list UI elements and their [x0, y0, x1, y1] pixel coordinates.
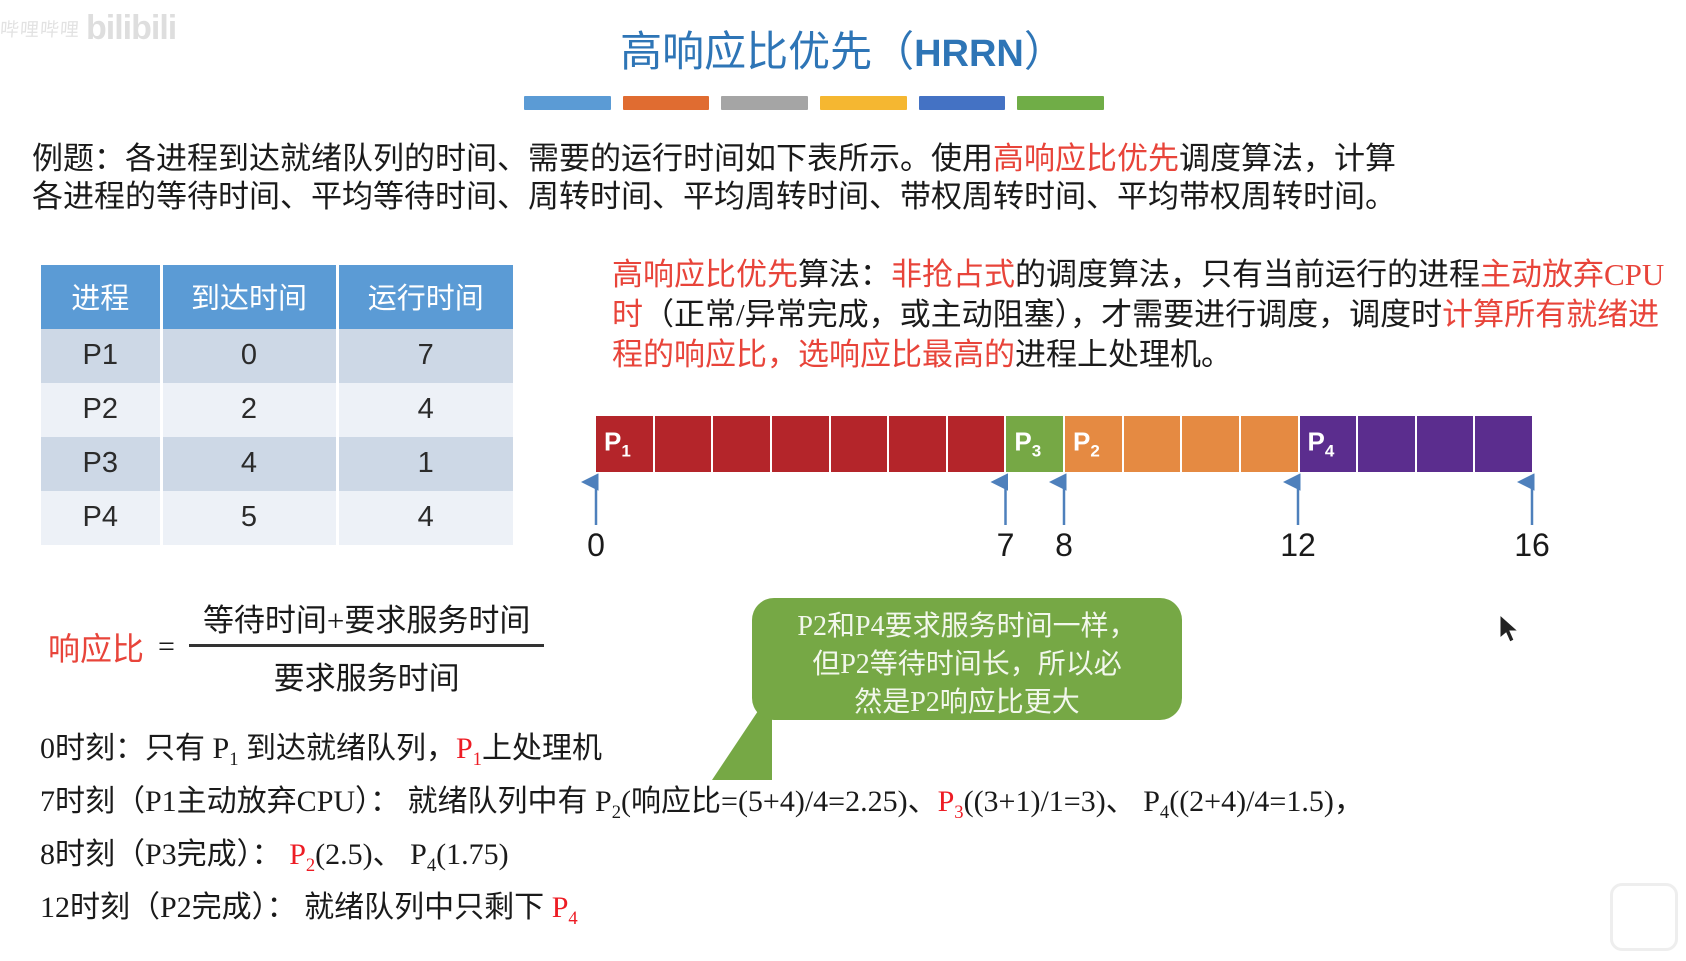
callout-line-1: P2和P4要求服务时间一样，	[752, 608, 1182, 646]
t12-a: 12时刻（P2完成）： 就绪队列中只剩下	[40, 891, 552, 924]
title-acronym: HRRN	[914, 33, 1024, 75]
t12-red-p: P	[552, 891, 569, 924]
t7-b: (响应比=(5+4)/4=2.25)、	[621, 785, 938, 818]
algorithm-description: 高响应比优先算法：非抢占式的调度算法，只有当前运行的进程主动放弃CPU时（正常/…	[612, 255, 1674, 375]
explanation-block: 0时刻：只有 P1 到达就绪队列，P1上处理机 7时刻（P1主动放弃CPU）： …	[40, 728, 1660, 940]
t0-red-p: P	[456, 732, 473, 765]
gantt-cell-P4	[1417, 416, 1476, 472]
gantt-cell-P2	[1124, 416, 1183, 472]
t0-red-sub: 1	[473, 749, 482, 770]
gantt-cell-label: P3	[1014, 426, 1041, 461]
gantt-cell-label: P1	[604, 426, 631, 461]
algo-t3: （正常/异常完成，或主动阻塞），才需要进行调度，调度时	[643, 297, 1442, 332]
gantt-cell-P1	[655, 416, 714, 472]
algo-t4: 进程上处理机。	[1015, 337, 1232, 372]
gantt-cell-P1	[713, 416, 772, 472]
callout-line-2: 但P2等待时间长，所以必	[752, 646, 1182, 684]
gantt-cell-label: P2	[1073, 426, 1100, 461]
gantt-cell-P3: P3	[1006, 416, 1065, 472]
explanation-line-t0: 0时刻：只有 P1 到达就绪队列，P1上处理机	[40, 728, 1660, 781]
t8-red-p: P	[289, 838, 306, 871]
algo-t2: 的调度算法，只有当前运行的进程	[1015, 257, 1480, 292]
table-header-arrival: 到达时间	[161, 265, 337, 329]
table-header-process: 进程	[41, 265, 161, 329]
page-title: 高响应比优先（HRRN）	[0, 18, 1686, 79]
table-row: P4 5 4	[41, 491, 513, 545]
t7-sub: 2	[612, 802, 621, 823]
title-cn-head: 高响应比优先（	[620, 30, 914, 76]
intro-line2: 各进程的等待时间、平均等待时间、周转时间、平均周转时间、带权周转时间、平均带权周…	[32, 179, 1396, 214]
gantt-cell-P1	[948, 416, 1007, 472]
title-bar-4	[820, 96, 907, 110]
algo-hl-nonpreemptive: 非抢占式	[891, 257, 1015, 292]
cell-process: P3	[41, 437, 161, 491]
explanation-line-t7: 7时刻（P1主动放弃CPU）： 就绪队列中有 P2(响应比=(5+4)/4=2.…	[40, 781, 1660, 834]
mouse-cursor-icon	[1500, 615, 1522, 647]
intro-highlight-hrrn: 高响应比优先	[993, 141, 1179, 176]
t7-a: 7时刻（P1主动放弃CPU）： 就绪队列中有 P	[40, 785, 612, 818]
t8-red-sub: 2	[306, 855, 315, 876]
cell-arrival: 5	[161, 491, 337, 545]
title-bar-2	[623, 96, 710, 110]
table-row: P1 0 7	[41, 329, 513, 383]
title-bar-6	[1017, 96, 1104, 110]
intro-paragraph: 例题：各进程到达就绪队列的时间、需要的运行时间如下表所示。使用高响应比优先调度算…	[32, 140, 1662, 216]
formula-denominator: 要求服务时间	[189, 644, 544, 698]
algo-hl-hrrn: 高响应比优先	[612, 257, 798, 292]
gantt-cell-P1	[889, 416, 948, 472]
gantt-cell-P1	[831, 416, 890, 472]
tick-label-12: 12	[1280, 527, 1316, 564]
gantt-cell-P1: P1	[596, 416, 655, 472]
algo-t1: 算法：	[798, 257, 891, 292]
tick-label-8: 8	[1055, 527, 1073, 564]
callout-line-3: 然是P2响应比更大	[752, 684, 1182, 722]
gantt-cell-P4	[1475, 416, 1532, 472]
gantt-cell-P2: P2	[1065, 416, 1124, 472]
formula-label: 响应比	[48, 624, 144, 670]
formula-numerator: 等待时间+要求服务时间	[189, 595, 544, 644]
gantt-chart: P1P3P2P4	[596, 416, 1532, 472]
gantt-cell-P1	[772, 416, 831, 472]
t7-c: ((3+1)/1=3)、 P	[964, 785, 1160, 818]
t7-d: ((2+4)/4=1.5)，	[1169, 785, 1364, 818]
title-cn-tail: ）	[1024, 30, 1066, 76]
t8-c: (1.75)	[436, 838, 508, 871]
gantt-cell-P2	[1241, 416, 1300, 472]
gantt-cell-label: P4	[1308, 426, 1335, 461]
table-row: P2 2 4	[41, 383, 513, 437]
formula-equals: =	[158, 630, 175, 664]
table-row: P3 4 1	[41, 437, 513, 491]
cell-process: P1	[41, 329, 161, 383]
t8-sub2: 4	[427, 855, 436, 876]
cell-burst: 4	[337, 491, 513, 545]
title-bar-5	[919, 96, 1006, 110]
cell-burst: 7	[337, 329, 513, 383]
gantt-cell-P2	[1182, 416, 1241, 472]
cell-burst: 4	[337, 383, 513, 437]
gantt-cell-P4	[1358, 416, 1417, 472]
gantt-cell-P4: P4	[1300, 416, 1359, 472]
title-bar-3	[721, 96, 808, 110]
table-header-burst: 运行时间	[337, 265, 513, 329]
cell-arrival: 4	[161, 437, 337, 491]
title-decoration-bars	[524, 96, 1104, 110]
explanation-line-t8: 8时刻（P3完成）： P2(2.5)、 P4(1.75)	[40, 834, 1660, 887]
process-table: 进程 到达时间 运行时间 P1 0 7 P2 2 4 P3 4 1 P4 5 4	[41, 265, 513, 545]
t7-red-sub: 3	[954, 802, 963, 823]
table-header-row: 进程 到达时间 运行时间	[41, 265, 513, 329]
t0-c: 上处理机	[482, 732, 602, 765]
title-bar-1	[524, 96, 611, 110]
overlay-placeholder-icon	[1610, 883, 1678, 951]
cell-process: P2	[41, 383, 161, 437]
cell-process: P4	[41, 491, 161, 545]
t0-a: 0时刻：只有 P	[40, 732, 229, 765]
response-ratio-formula: 响应比 = 等待时间+要求服务时间 要求服务时间	[48, 595, 544, 698]
explanation-line-t12: 12时刻（P2完成）： 就绪队列中只剩下 P4	[40, 887, 1660, 940]
cell-arrival: 0	[161, 329, 337, 383]
tick-label-0: 0	[587, 527, 605, 564]
callout-bubble: P2和P4要求服务时间一样， 但P2等待时间长，所以必 然是P2响应比更大	[752, 598, 1182, 720]
cell-arrival: 2	[161, 383, 337, 437]
intro-line1-a: 例题：各进程到达就绪队列的时间、需要的运行时间如下表所示。使用	[32, 141, 993, 176]
t0-b: 到达就绪队列，	[238, 732, 456, 765]
t8-a: 8时刻（P3完成）：	[40, 838, 282, 871]
tick-label-7: 7	[997, 527, 1015, 564]
t7-red-p: P	[938, 785, 955, 818]
t12-red-sub: 4	[568, 908, 577, 929]
intro-line1-b: 调度算法，计算	[1179, 141, 1396, 176]
tick-label-16: 16	[1514, 527, 1550, 564]
cell-burst: 1	[337, 437, 513, 491]
t8-b: (2.5)、 P	[315, 838, 427, 871]
formula-fraction: 等待时间+要求服务时间 要求服务时间	[189, 595, 544, 698]
t7-sub2: 4	[1160, 802, 1169, 823]
